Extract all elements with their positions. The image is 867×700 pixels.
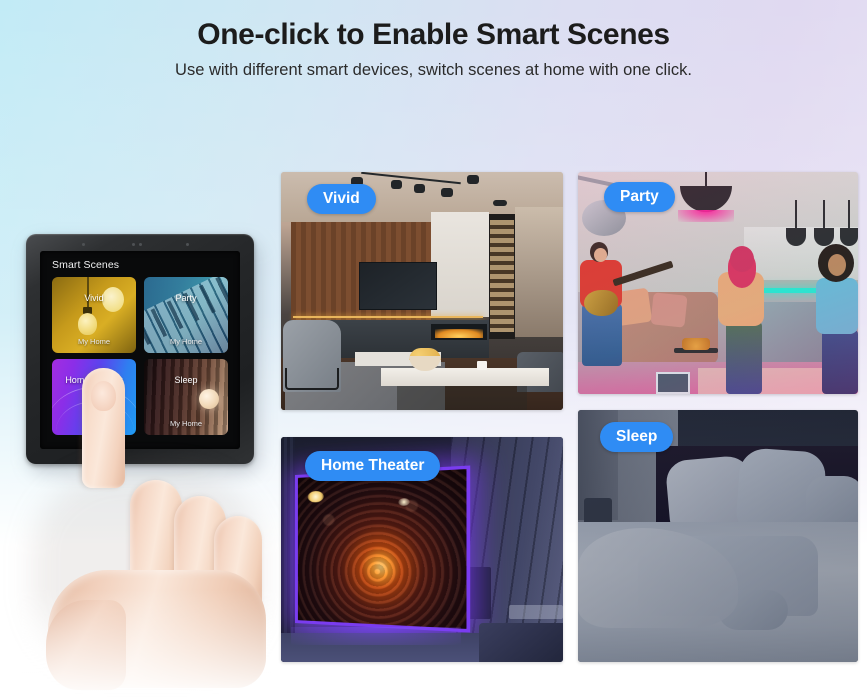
photo-badge-party: Party [604, 182, 675, 212]
device-bezel: Smart Scenes Vivid My Home Party My Home [26, 234, 254, 464]
photo-badge-vivid: Vivid [307, 184, 376, 214]
photo-party: Party [578, 172, 858, 394]
scene-tile-party[interactable]: Party My Home [144, 277, 228, 353]
scene-tile-label: Vivid [52, 293, 136, 303]
screen-title: Smart Scenes [52, 259, 119, 271]
sensor-dot-icon [139, 243, 142, 246]
scene-tile-label: Sleep [144, 375, 228, 385]
sensor-dot-icon [82, 243, 85, 246]
sensor-dot-icon [186, 243, 189, 246]
scene-tile-vivid[interactable]: Vivid My Home [52, 277, 136, 353]
hand-fade-mask [22, 590, 272, 700]
panel-screen: Smart Scenes Vivid My Home Party My Home [40, 251, 240, 449]
photo-home-theater: Home Theater [281, 437, 563, 662]
scene-tile-grid: Vivid My Home Party My Home Home Theater [52, 277, 228, 437]
scene-tile-sublabel: My Home [52, 337, 136, 346]
scene-tile-sublabel: My Home [144, 419, 228, 428]
sensor-dot-icon [132, 243, 135, 246]
photo-vivid: Vivid [281, 172, 563, 410]
photo-sleep: Sleep [578, 410, 858, 662]
scene-tile-sleep[interactable]: Sleep My Home [144, 359, 228, 435]
smart-panel-device[interactable]: Smart Scenes Vivid My Home Party My Home [26, 234, 256, 468]
scene-tile-sublabel: My Home [144, 337, 228, 346]
photo-badge-home-theater: Home Theater [305, 451, 440, 481]
scene-tile-label: Party [144, 293, 228, 303]
pointing-finger-tip [82, 368, 125, 488]
page-title: One-click to Enable Smart Scenes [0, 15, 867, 55]
hand-illustration [22, 440, 272, 680]
photo-badge-sleep: Sleep [600, 422, 673, 452]
header: One-click to Enable Smart Scenes Use wit… [0, 0, 867, 82]
fingernail [91, 381, 116, 411]
page-subtitle: Use with different smart devices, switch… [0, 58, 867, 82]
